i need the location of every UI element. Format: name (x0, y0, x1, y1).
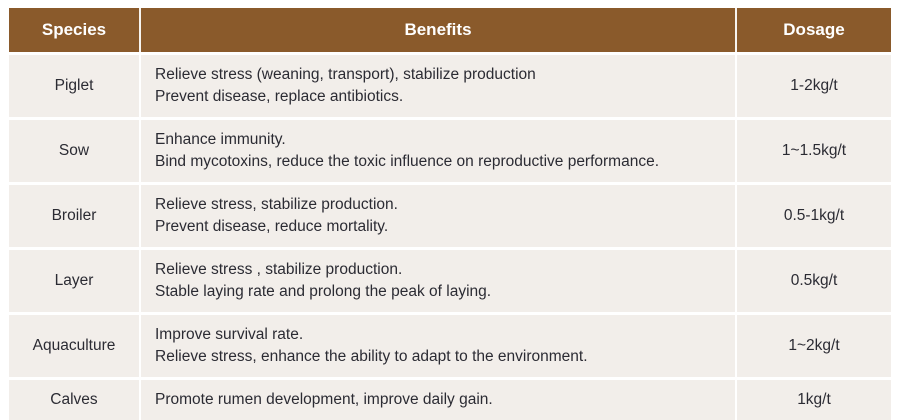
table-row: Aquaculture Improve survival rate. Relie… (9, 314, 891, 379)
benefit-line: Prevent disease, reduce mortality. (155, 216, 725, 238)
cell-benefits: Relieve stress (weaning, transport), sta… (140, 54, 736, 119)
cell-species: Layer (9, 249, 140, 314)
benefit-line: Relieve stress, enhance the ability to a… (155, 346, 725, 368)
column-header-dosage: Dosage (736, 8, 891, 54)
cell-dosage: 0.5kg/t (736, 249, 891, 314)
benefit-line: Relieve stress , stabilize production. (155, 259, 725, 281)
table-row: Calves Promote rumen development, improv… (9, 379, 891, 420)
cell-species: Broiler (9, 184, 140, 249)
benefit-line: Relieve stress, stabilize production. (155, 194, 725, 216)
table-row: Broiler Relieve stress, stabilize produc… (9, 184, 891, 249)
cell-species: Calves (9, 379, 140, 420)
species-benefits-table: Species Benefits Dosage Piglet Relieve s… (9, 8, 891, 420)
benefit-line: Prevent disease, replace antibiotics. (155, 86, 725, 108)
cell-species: Piglet (9, 54, 140, 119)
column-header-benefits: Benefits (140, 8, 736, 54)
cell-benefits: Promote rumen development, improve daily… (140, 379, 736, 420)
cell-benefits: Relieve stress, stabilize production. Pr… (140, 184, 736, 249)
cell-benefits: Improve survival rate. Relieve stress, e… (140, 314, 736, 379)
table-row: Piglet Relieve stress (weaning, transpor… (9, 54, 891, 119)
table-body: Piglet Relieve stress (weaning, transpor… (9, 54, 891, 420)
column-header-species: Species (9, 8, 140, 54)
cell-dosage: 1-2kg/t (736, 54, 891, 119)
cell-benefits: Enhance immunity. Bind mycotoxins, reduc… (140, 119, 736, 184)
table-row: Layer Relieve stress , stabilize product… (9, 249, 891, 314)
cell-species: Sow (9, 119, 140, 184)
benefit-line: Stable laying rate and prolong the peak … (155, 281, 725, 303)
cell-benefits: Relieve stress , stabilize production. S… (140, 249, 736, 314)
benefit-line: Bind mycotoxins, reduce the toxic influe… (155, 151, 725, 173)
table-header-row: Species Benefits Dosage (9, 8, 891, 54)
cell-dosage: 1kg/t (736, 379, 891, 420)
cell-species: Aquaculture (9, 314, 140, 379)
table-row: Sow Enhance immunity. Bind mycotoxins, r… (9, 119, 891, 184)
benefit-line: Relieve stress (weaning, transport), sta… (155, 64, 725, 86)
cell-dosage: 1~1.5kg/t (736, 119, 891, 184)
benefit-line: Promote rumen development, improve daily… (155, 389, 725, 411)
species-benefits-table-container: Species Benefits Dosage Piglet Relieve s… (9, 8, 891, 405)
benefit-line: Improve survival rate. (155, 324, 725, 346)
table-header: Species Benefits Dosage (9, 8, 891, 54)
cell-dosage: 1~2kg/t (736, 314, 891, 379)
benefit-line: Enhance immunity. (155, 129, 725, 151)
cell-dosage: 0.5-1kg/t (736, 184, 891, 249)
